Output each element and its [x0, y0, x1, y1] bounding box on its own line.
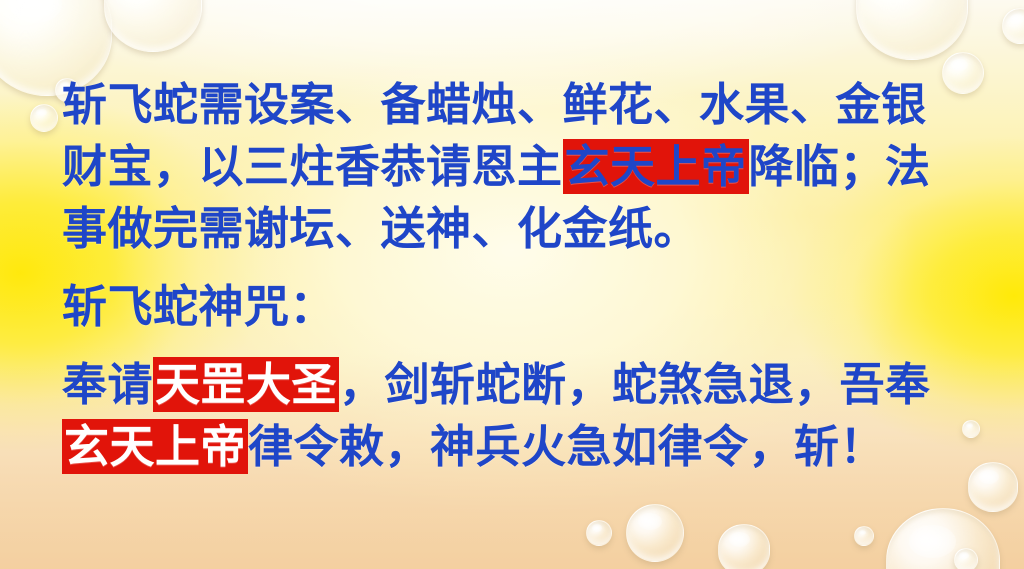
highlighted-deity-name: 玄天上帝 — [62, 419, 248, 474]
text-segment: 律令敕，神兵火急如律令，斩！ — [248, 420, 885, 473]
slide-text-body: 斩飞蛇需设案、备蜡烛、鲜花、水果、金银财宝，以三炷香恭请恩主玄天上帝降临；法事做… — [0, 0, 1024, 569]
text-segment: 斩飞蛇神咒： — [62, 280, 335, 333]
text-segment: ，剑斩蛇断，蛇煞急退，吾奉 — [339, 358, 931, 411]
text-segment: 财宝，以三炷香恭请恩主 — [62, 140, 563, 193]
text-segment: 奉请 — [62, 358, 153, 411]
text-segment: 事做完需谢坛、送神、化金纸。 — [62, 202, 699, 255]
text-line-incantation-body-1: 奉请天罡大圣，剑斩蛇断，蛇煞急退，吾奉 — [62, 354, 972, 416]
text-line-ritual-instructions-3: 事做完需谢坛、送神、化金纸。 — [62, 198, 972, 260]
highlighted-deity-name: 玄天上帝 — [563, 139, 749, 194]
slide-canvas: 斩飞蛇需设案、备蜡烛、鲜花、水果、金银财宝，以三炷香恭请恩主玄天上帝降临；法事做… — [0, 0, 1024, 569]
text-segment: 斩飞蛇需设案、备蜡烛、鲜花、水果、金银 — [62, 78, 927, 131]
text-line-ritual-instructions-1: 斩飞蛇需设案、备蜡烛、鲜花、水果、金银 — [62, 74, 972, 136]
highlighted-deity-name: 天罡大圣 — [153, 357, 339, 412]
text-line-incantation-heading-1: 斩飞蛇神咒： — [62, 276, 972, 338]
text-line-incantation-body-2: 玄天上帝律令敕，神兵火急如律令，斩！ — [62, 416, 972, 478]
text-line-ritual-instructions-2: 财宝，以三炷香恭请恩主玄天上帝降临；法 — [62, 136, 972, 198]
text-segment: 降临；法 — [749, 140, 931, 193]
